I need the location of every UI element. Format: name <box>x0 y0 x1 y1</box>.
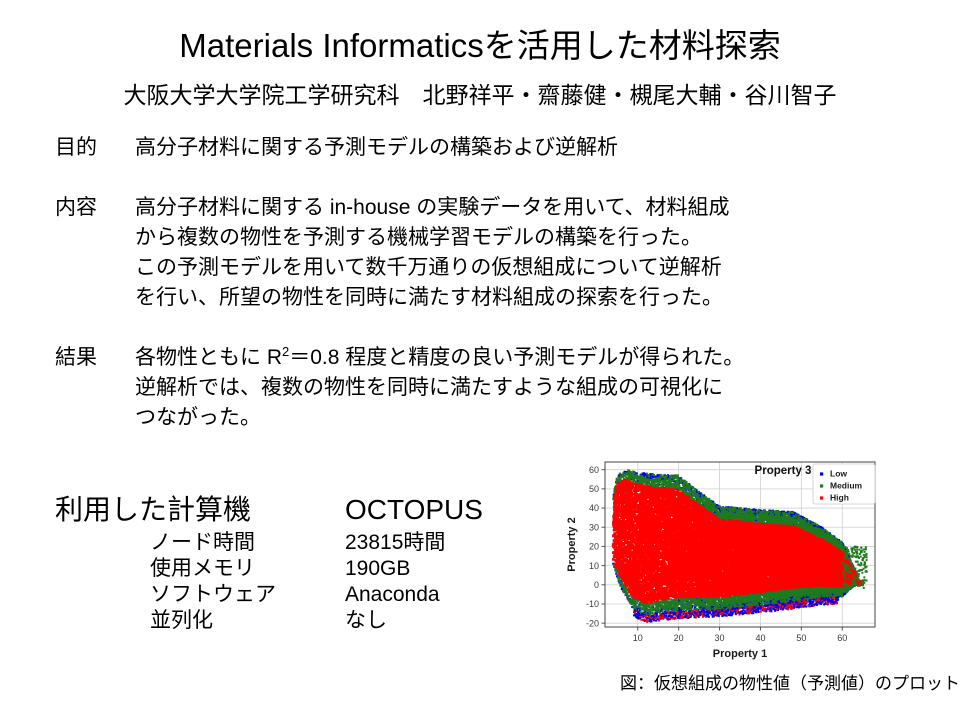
section-line: 高分子材料に関する in-house の実験データを用いて、材料組成 <box>135 193 935 223</box>
compute-heading-value: OCTOPUS <box>345 492 483 528</box>
r2-text-before: 各物性ともに R <box>135 346 282 369</box>
compute-row: 使用メモリ 190GB <box>55 556 525 582</box>
section-purpose: 目的 高分子材料に関する予測モデルの構築および逆解析 <box>55 133 935 163</box>
affiliation-authors: 大阪大学大学院工学研究科 北野祥平・齋藤健・槻尾大輔・谷川智子 <box>0 80 960 110</box>
compute-row-label: ソフトウェア <box>150 582 345 608</box>
page-title: Materials Informaticsを活用した材料探索 <box>0 26 960 66</box>
scatter-plot: 102030405060-20-100102030405060Property … <box>545 452 945 667</box>
compute-resources-block: 利用した計算機 OCTOPUS ノード時間 23815時間 使用メモリ 190G… <box>55 492 525 634</box>
compute-row: ソフトウェア Anaconda <box>55 582 525 608</box>
figure-caption: 図：仮想組成の物性値（予測値）のプロット <box>540 672 960 696</box>
compute-row-value: 190GB <box>345 556 410 582</box>
compute-rows: ノード時間 23815時間 使用メモリ 190GB ソフトウェア Anacond… <box>55 530 525 634</box>
section-label-purpose: 目的 <box>55 133 135 163</box>
section-body-purpose: 高分子材料に関する予測モデルの構築および逆解析 <box>135 133 935 163</box>
compute-row-value: なし <box>345 608 387 634</box>
compute-heading-row: 利用した計算機 OCTOPUS <box>55 492 525 528</box>
section-line: を行い、所望の物性を同時に満たす材料組成の探索を行った。 <box>135 283 935 313</box>
section-body-content: 高分子材料に関する in-house の実験データを用いて、材料組成 から複数の… <box>135 193 935 313</box>
section-label-result: 結果 <box>55 343 135 373</box>
compute-row-value: Anaconda <box>345 582 440 608</box>
compute-row: 並列化 なし <box>55 608 525 634</box>
section-result: 結果 各物性ともに R2＝0.8 程度と精度の良い予測モデルが得られた。 逆解析… <box>55 343 935 433</box>
section-label-content: 内容 <box>55 193 135 223</box>
section-body-result: 各物性ともに R2＝0.8 程度と精度の良い予測モデルが得られた。 逆解析では、… <box>135 343 935 433</box>
section-line: から複数の物性を予測する機械学習モデルの構築を行った。 <box>135 223 935 253</box>
section-content: 内容 高分子材料に関する in-house の実験データを用いて、材料組成 から… <box>55 193 935 313</box>
compute-row: ノード時間 23815時間 <box>55 530 525 556</box>
section-line-r2: 各物性ともに R2＝0.8 程度と精度の良い予測モデルが得られた。 <box>135 343 935 373</box>
compute-row-label: ノード時間 <box>150 530 345 556</box>
section-line: 逆解析では、複数の物性を同時に満たすような組成の可視化に <box>135 373 935 403</box>
compute-heading-label: 利用した計算機 <box>55 492 345 528</box>
section-line: つながった。 <box>135 403 935 433</box>
compute-row-label: 使用メモリ <box>150 556 345 582</box>
section-line: この予測モデルを用いて数千万通りの仮想組成について逆解析 <box>135 253 935 283</box>
scatter-figure-wrap: 102030405060-20-100102030405060Property … <box>545 452 945 667</box>
section-line: 高分子材料に関する予測モデルの構築および逆解析 <box>135 133 935 163</box>
compute-row-value: 23815時間 <box>345 530 445 556</box>
r2-text-after: ＝0.8 程度と精度の良い予測モデルが得られた。 <box>289 346 744 369</box>
compute-row-label: 並列化 <box>150 608 345 634</box>
